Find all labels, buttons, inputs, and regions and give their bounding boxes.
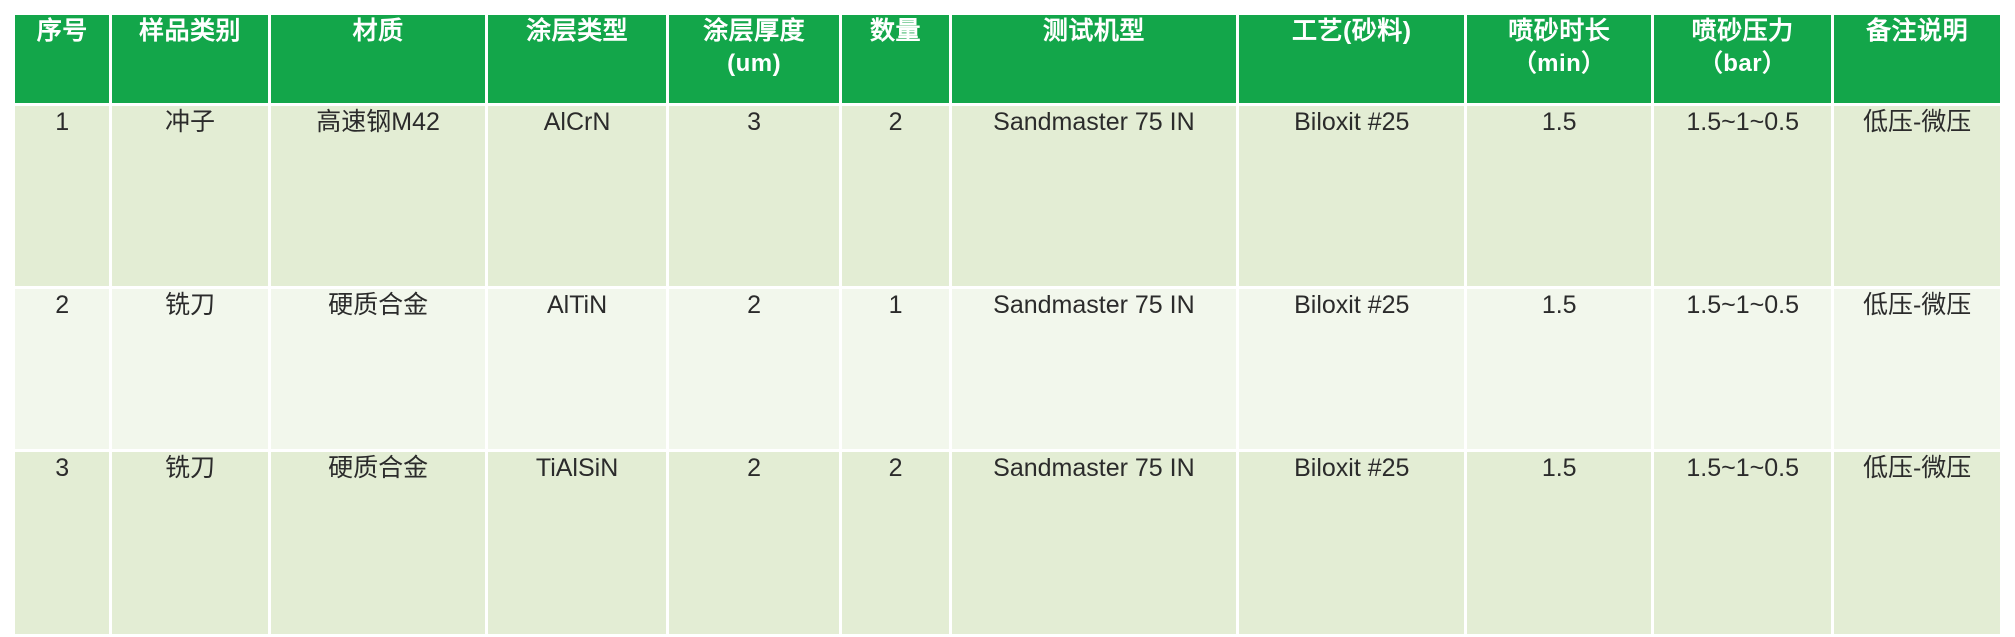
column-header-machine[interactable]: 测试机型 bbox=[952, 15, 1237, 103]
cell-seq[interactable]: 1 bbox=[15, 106, 109, 286]
cell-process[interactable]: Biloxit #25 bbox=[1239, 289, 1464, 449]
cell-process[interactable]: Biloxit #25 bbox=[1239, 106, 1464, 286]
sample-test-parameters-table: 序号 样品类别 材质 涂层类型 涂层厚度 (um) 数量 bbox=[12, 12, 2003, 637]
cell-pressure[interactable]: 1.5~1~0.5 bbox=[1654, 452, 1831, 634]
column-header-coating[interactable]: 涂层类型 bbox=[488, 15, 665, 103]
column-header-pressure-label: 喷砂压力 bbox=[1692, 17, 1794, 45]
cell-thickness[interactable]: 2 bbox=[669, 289, 840, 449]
table-body: 1 冲子 高速钢M42 AlCrN 3 2 Sandmaster 75 IN B… bbox=[15, 106, 2000, 634]
column-header-blasttime[interactable]: 喷砂时长 （min） bbox=[1467, 15, 1651, 103]
column-header-quantity-label: 数量 bbox=[870, 17, 921, 45]
left-edge-watermark-fragment-2: · bbox=[0, 306, 6, 321]
cell-material[interactable]: 硬质合金 bbox=[271, 289, 486, 449]
column-header-pressure[interactable]: 喷砂压力 （bar） bbox=[1654, 15, 1831, 103]
column-header-process-label: 工艺(砂料) bbox=[1292, 17, 1412, 45]
cell-coating[interactable]: TiAlSiN bbox=[488, 452, 665, 634]
cell-material[interactable]: 硬质合金 bbox=[271, 452, 486, 634]
cell-machine[interactable]: Sandmaster 75 IN bbox=[952, 452, 1237, 634]
column-header-blasttime-label: 喷砂时长 bbox=[1508, 17, 1610, 45]
cell-category[interactable]: 冲子 bbox=[112, 106, 267, 286]
column-header-thickness-unit: (um) bbox=[669, 48, 840, 80]
table-row[interactable]: 3 铣刀 硬质合金 TiAlSiN 2 2 Sandmaster 75 IN B… bbox=[15, 452, 2000, 634]
cell-pressure[interactable]: 1.5~1~0.5 bbox=[1654, 106, 1831, 286]
column-header-remark-label: 备注说明 bbox=[1866, 17, 1968, 45]
column-header-quantity[interactable]: 数量 bbox=[842, 15, 948, 103]
cell-material[interactable]: 高速钢M42 bbox=[271, 106, 486, 286]
cell-remark[interactable]: 低压-微压 bbox=[1834, 452, 2000, 634]
spreadsheet-canvas: · · 序号 样品类别 材质 涂层类型 bbox=[0, 0, 2015, 637]
column-header-machine-label: 测试机型 bbox=[1043, 17, 1145, 45]
cell-machine[interactable]: Sandmaster 75 IN bbox=[952, 289, 1237, 449]
cell-quantity[interactable]: 2 bbox=[842, 452, 948, 634]
column-header-category-label: 样品类别 bbox=[139, 17, 241, 45]
cell-quantity[interactable]: 2 bbox=[842, 106, 948, 286]
cell-blasttime[interactable]: 1.5 bbox=[1467, 106, 1651, 286]
cell-coating[interactable]: AlCrN bbox=[488, 106, 665, 286]
table-header-row: 序号 样品类别 材质 涂层类型 涂层厚度 (um) 数量 bbox=[15, 15, 2000, 103]
column-header-blasttime-unit: （min） bbox=[1467, 48, 1651, 80]
cell-thickness[interactable]: 2 bbox=[669, 452, 840, 634]
column-header-material-label: 材质 bbox=[353, 17, 404, 45]
table-header: 序号 样品类别 材质 涂层类型 涂层厚度 (um) 数量 bbox=[15, 15, 2000, 103]
table-row[interactable]: 2 铣刀 硬质合金 AlTiN 2 1 Sandmaster 75 IN Bil… bbox=[15, 289, 2000, 449]
cell-blasttime[interactable]: 1.5 bbox=[1467, 452, 1651, 634]
cell-machine[interactable]: Sandmaster 75 IN bbox=[952, 106, 1237, 286]
cell-seq[interactable]: 3 bbox=[15, 452, 109, 634]
cell-remark[interactable]: 低压-微压 bbox=[1834, 289, 2000, 449]
table-row[interactable]: 1 冲子 高速钢M42 AlCrN 3 2 Sandmaster 75 IN B… bbox=[15, 106, 2000, 286]
column-header-seq-label: 序号 bbox=[37, 17, 88, 45]
cell-category[interactable]: 铣刀 bbox=[112, 289, 267, 449]
cell-process[interactable]: Biloxit #25 bbox=[1239, 452, 1464, 634]
cell-seq[interactable]: 2 bbox=[15, 289, 109, 449]
column-header-coating-label: 涂层类型 bbox=[526, 17, 628, 45]
column-header-material[interactable]: 材质 bbox=[271, 15, 486, 103]
cell-pressure[interactable]: 1.5~1~0.5 bbox=[1654, 289, 1831, 449]
column-header-thickness[interactable]: 涂层厚度 (um) bbox=[669, 15, 840, 103]
column-header-thickness-label: 涂层厚度 bbox=[703, 17, 805, 45]
cell-quantity[interactable]: 1 bbox=[842, 289, 948, 449]
column-header-pressure-unit: （bar） bbox=[1654, 48, 1831, 80]
cell-category[interactable]: 铣刀 bbox=[112, 452, 267, 634]
cell-remark[interactable]: 低压-微压 bbox=[1834, 106, 2000, 286]
column-header-seq[interactable]: 序号 bbox=[15, 15, 109, 103]
cell-blasttime[interactable]: 1.5 bbox=[1467, 289, 1651, 449]
column-header-category[interactable]: 样品类别 bbox=[112, 15, 267, 103]
left-edge-watermark-fragment-1: · bbox=[0, 286, 6, 301]
column-header-remark[interactable]: 备注说明 bbox=[1834, 15, 2000, 103]
column-header-process[interactable]: 工艺(砂料) bbox=[1239, 15, 1464, 103]
cell-thickness[interactable]: 3 bbox=[669, 106, 840, 286]
cell-coating[interactable]: AlTiN bbox=[488, 289, 665, 449]
